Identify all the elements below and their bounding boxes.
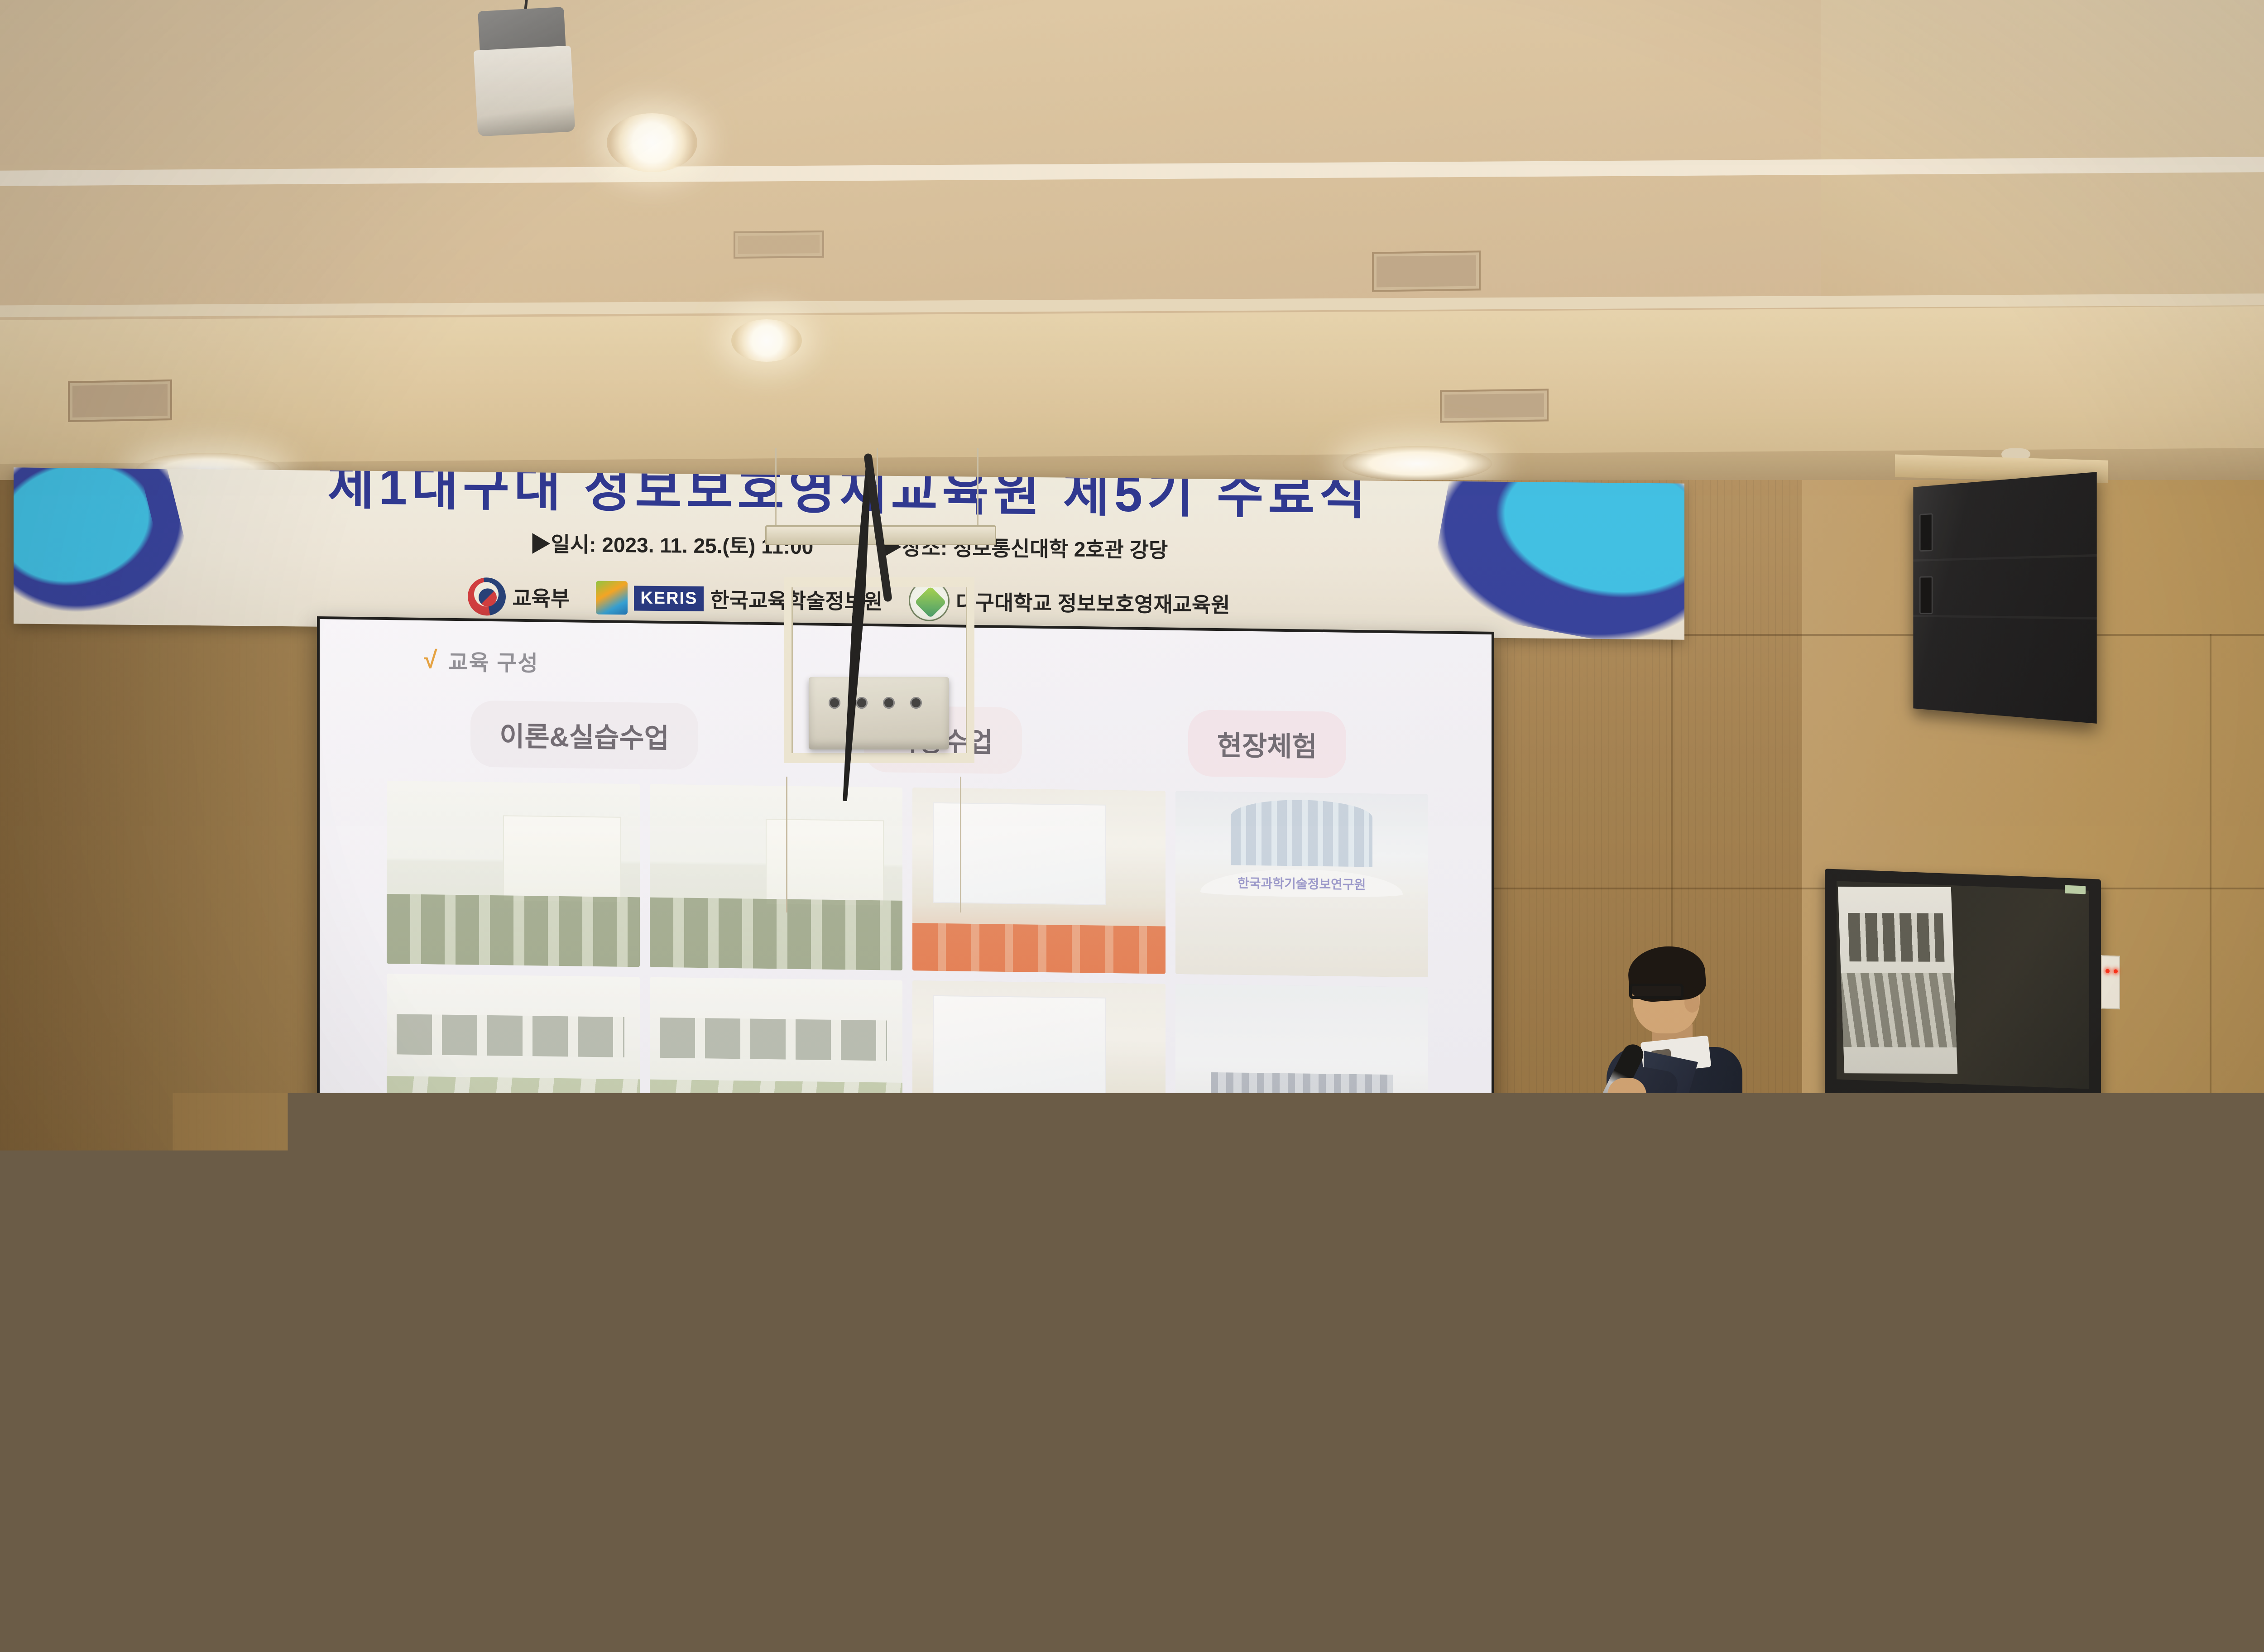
audience-head (1757, 1454, 1866, 1590)
tv-mirrored-content (1838, 887, 1957, 1074)
seat-handout[interactable] (1571, 1401, 1648, 1462)
audience-head (1078, 1363, 1155, 1460)
tv-screen (1837, 881, 2089, 1089)
audience-shoulders (860, 1562, 1060, 1652)
logo-daegu-label: 대구대학교 정보보호영재교육원 (956, 586, 1230, 619)
audience-seating (0, 1304, 2264, 1652)
slide-photo (650, 977, 903, 1163)
seat-armrest-plate (388, 1491, 433, 1556)
ceiling-projector (809, 677, 949, 749)
slide-photo (650, 784, 903, 970)
slide-photo (912, 980, 1166, 1167)
seat[interactable] (534, 1599, 734, 1652)
auditorium-scene: 제1대구대 정보보호영재교육원 제5기 수료식 ▶일시: 2023. 11. 2… (0, 0, 2264, 1652)
ceiling-downlight (731, 319, 802, 362)
audience-head (281, 1292, 365, 1395)
slide-photo: 한국과학기술정보연구원 (1175, 791, 1429, 977)
taegeuk-icon (468, 577, 506, 616)
slide-photo-caption: 한국과학기술정보연구원 (1200, 868, 1403, 898)
keris-icon (596, 581, 628, 615)
tv-monitor (1825, 869, 2101, 1105)
audience-head (2169, 1282, 2237, 1369)
presenter-hand (1595, 1123, 1630, 1157)
seat[interactable] (1381, 1599, 1580, 1652)
slide-heading: √ 교육 구성 (424, 644, 539, 677)
presenter (1553, 942, 1743, 1359)
logo-moe-label: 교육부 (512, 582, 570, 612)
audience-head (906, 1440, 1014, 1576)
presenter-hand (1607, 1078, 1646, 1117)
seat[interactable] (2038, 1594, 2237, 1652)
lift-wire (786, 777, 787, 912)
slide-photo-caption: 2023학년도 정보보호영재교육원 하계집중교육 기관견학 (1205, 1109, 1398, 1140)
ceiling-vent (1440, 389, 1549, 423)
logo-moe: 교육부 (468, 577, 570, 616)
ceiling-downlight (1343, 446, 1492, 481)
slide-pill: 이론&실습수업 (470, 700, 698, 770)
slide-heading-text: 교육 구성 (448, 644, 539, 677)
slide-photo (387, 974, 640, 1160)
ceiling-camera-pod (478, 7, 568, 97)
slide-photo-grid: 한국과학기술정보연구원 2023학년도 정보보호영재교육원 하계집중교육 기관견… (387, 781, 1428, 1170)
ceiling-downlight (607, 113, 697, 172)
lift-wire (960, 777, 961, 912)
wall-speaker (1913, 472, 2096, 724)
tv-label-sticker (2065, 885, 2086, 894)
wall-seam (2210, 634, 2211, 1268)
audience-shoulders (27, 1372, 158, 1440)
lift-bar (784, 753, 974, 763)
keris-wordmark: KERIS (634, 586, 704, 611)
glasses-icon (1629, 984, 1684, 999)
ceiling-vent (68, 379, 172, 422)
slide-photo (387, 781, 640, 967)
audience-head (1395, 1286, 1463, 1366)
ceiling-vent (734, 231, 824, 259)
audience-head (1150, 1422, 1263, 1571)
slide-photo: 2023학년도 정보보호영재교육원 하계집중교육 기관견학 (1175, 984, 1429, 1170)
audience-head (1947, 1277, 2027, 1381)
audience-head (1372, 1436, 1481, 1576)
check-icon: √ (424, 648, 437, 672)
wall-control-panel[interactable] (2101, 955, 2120, 1009)
slide-logo-kr: 대구대학교 (1279, 1234, 1401, 1257)
projector-lift (765, 446, 996, 781)
audience-head (1992, 1440, 2106, 1585)
slide-pill: 현장체험 (1188, 710, 1346, 778)
audience-head (1730, 1289, 1794, 1367)
ceiling-vent (1372, 250, 1481, 292)
lift-bar (784, 577, 974, 587)
slide-photo (912, 788, 1166, 974)
